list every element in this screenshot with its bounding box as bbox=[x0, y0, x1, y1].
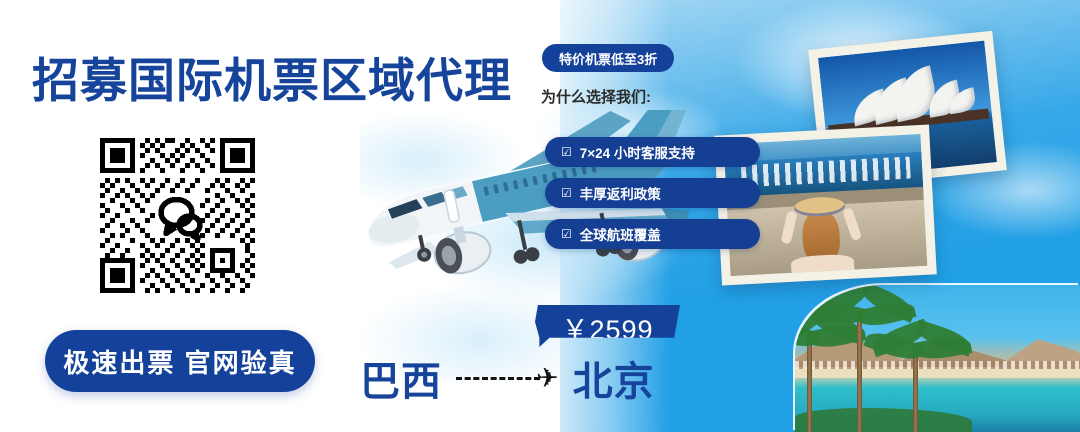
why-choose-us-label: 为什么选择我们: bbox=[541, 86, 651, 107]
checkbox-icon: ☑ bbox=[561, 146, 572, 158]
airplane-icon: ✈ bbox=[536, 365, 559, 392]
checkbox-icon: ☑ bbox=[561, 228, 572, 240]
sun-hat bbox=[794, 196, 845, 218]
tropical-beach-scene bbox=[795, 285, 1080, 432]
qr-code-graphic bbox=[95, 133, 260, 298]
foliage bbox=[795, 408, 972, 432]
dashed-line bbox=[456, 377, 540, 380]
feature-item-support[interactable]: ☑ 7×24 小时客服支持 bbox=[545, 137, 760, 167]
flight-path: ✈ bbox=[456, 365, 559, 392]
route-row: 巴西 ✈ 北京 bbox=[360, 352, 720, 404]
feature-label: 7×24 小时客服支持 bbox=[580, 142, 695, 162]
origin-city: 巴西 bbox=[360, 349, 442, 407]
travel-agency-banner: 招募国际机票区域代理 bbox=[0, 0, 1080, 432]
feature-label: 丰厚返利政策 bbox=[580, 183, 661, 203]
feature-list: ☑ 7×24 小时客服支持 ☑ 丰厚返利政策 ☑ 全球航班覆盖 bbox=[545, 137, 760, 260]
feature-item-coverage[interactable]: ☑ 全球航班覆盖 bbox=[545, 219, 760, 249]
cta-button[interactable]: 极速出票 官网验真 bbox=[45, 330, 315, 392]
sand-strip bbox=[795, 369, 1080, 378]
promo-badge: 特价机票低至3折 bbox=[542, 44, 674, 72]
destination-city: 北京 bbox=[573, 349, 655, 407]
feature-label: 全球航班覆盖 bbox=[580, 224, 661, 244]
traveler-figure bbox=[780, 195, 863, 273]
page-title: 招募国际机票区域代理 bbox=[32, 42, 512, 111]
qr-code[interactable] bbox=[95, 133, 260, 298]
checkbox-icon: ☑ bbox=[561, 187, 572, 199]
feature-item-rebate[interactable]: ☑ 丰厚返利政策 bbox=[545, 178, 760, 208]
